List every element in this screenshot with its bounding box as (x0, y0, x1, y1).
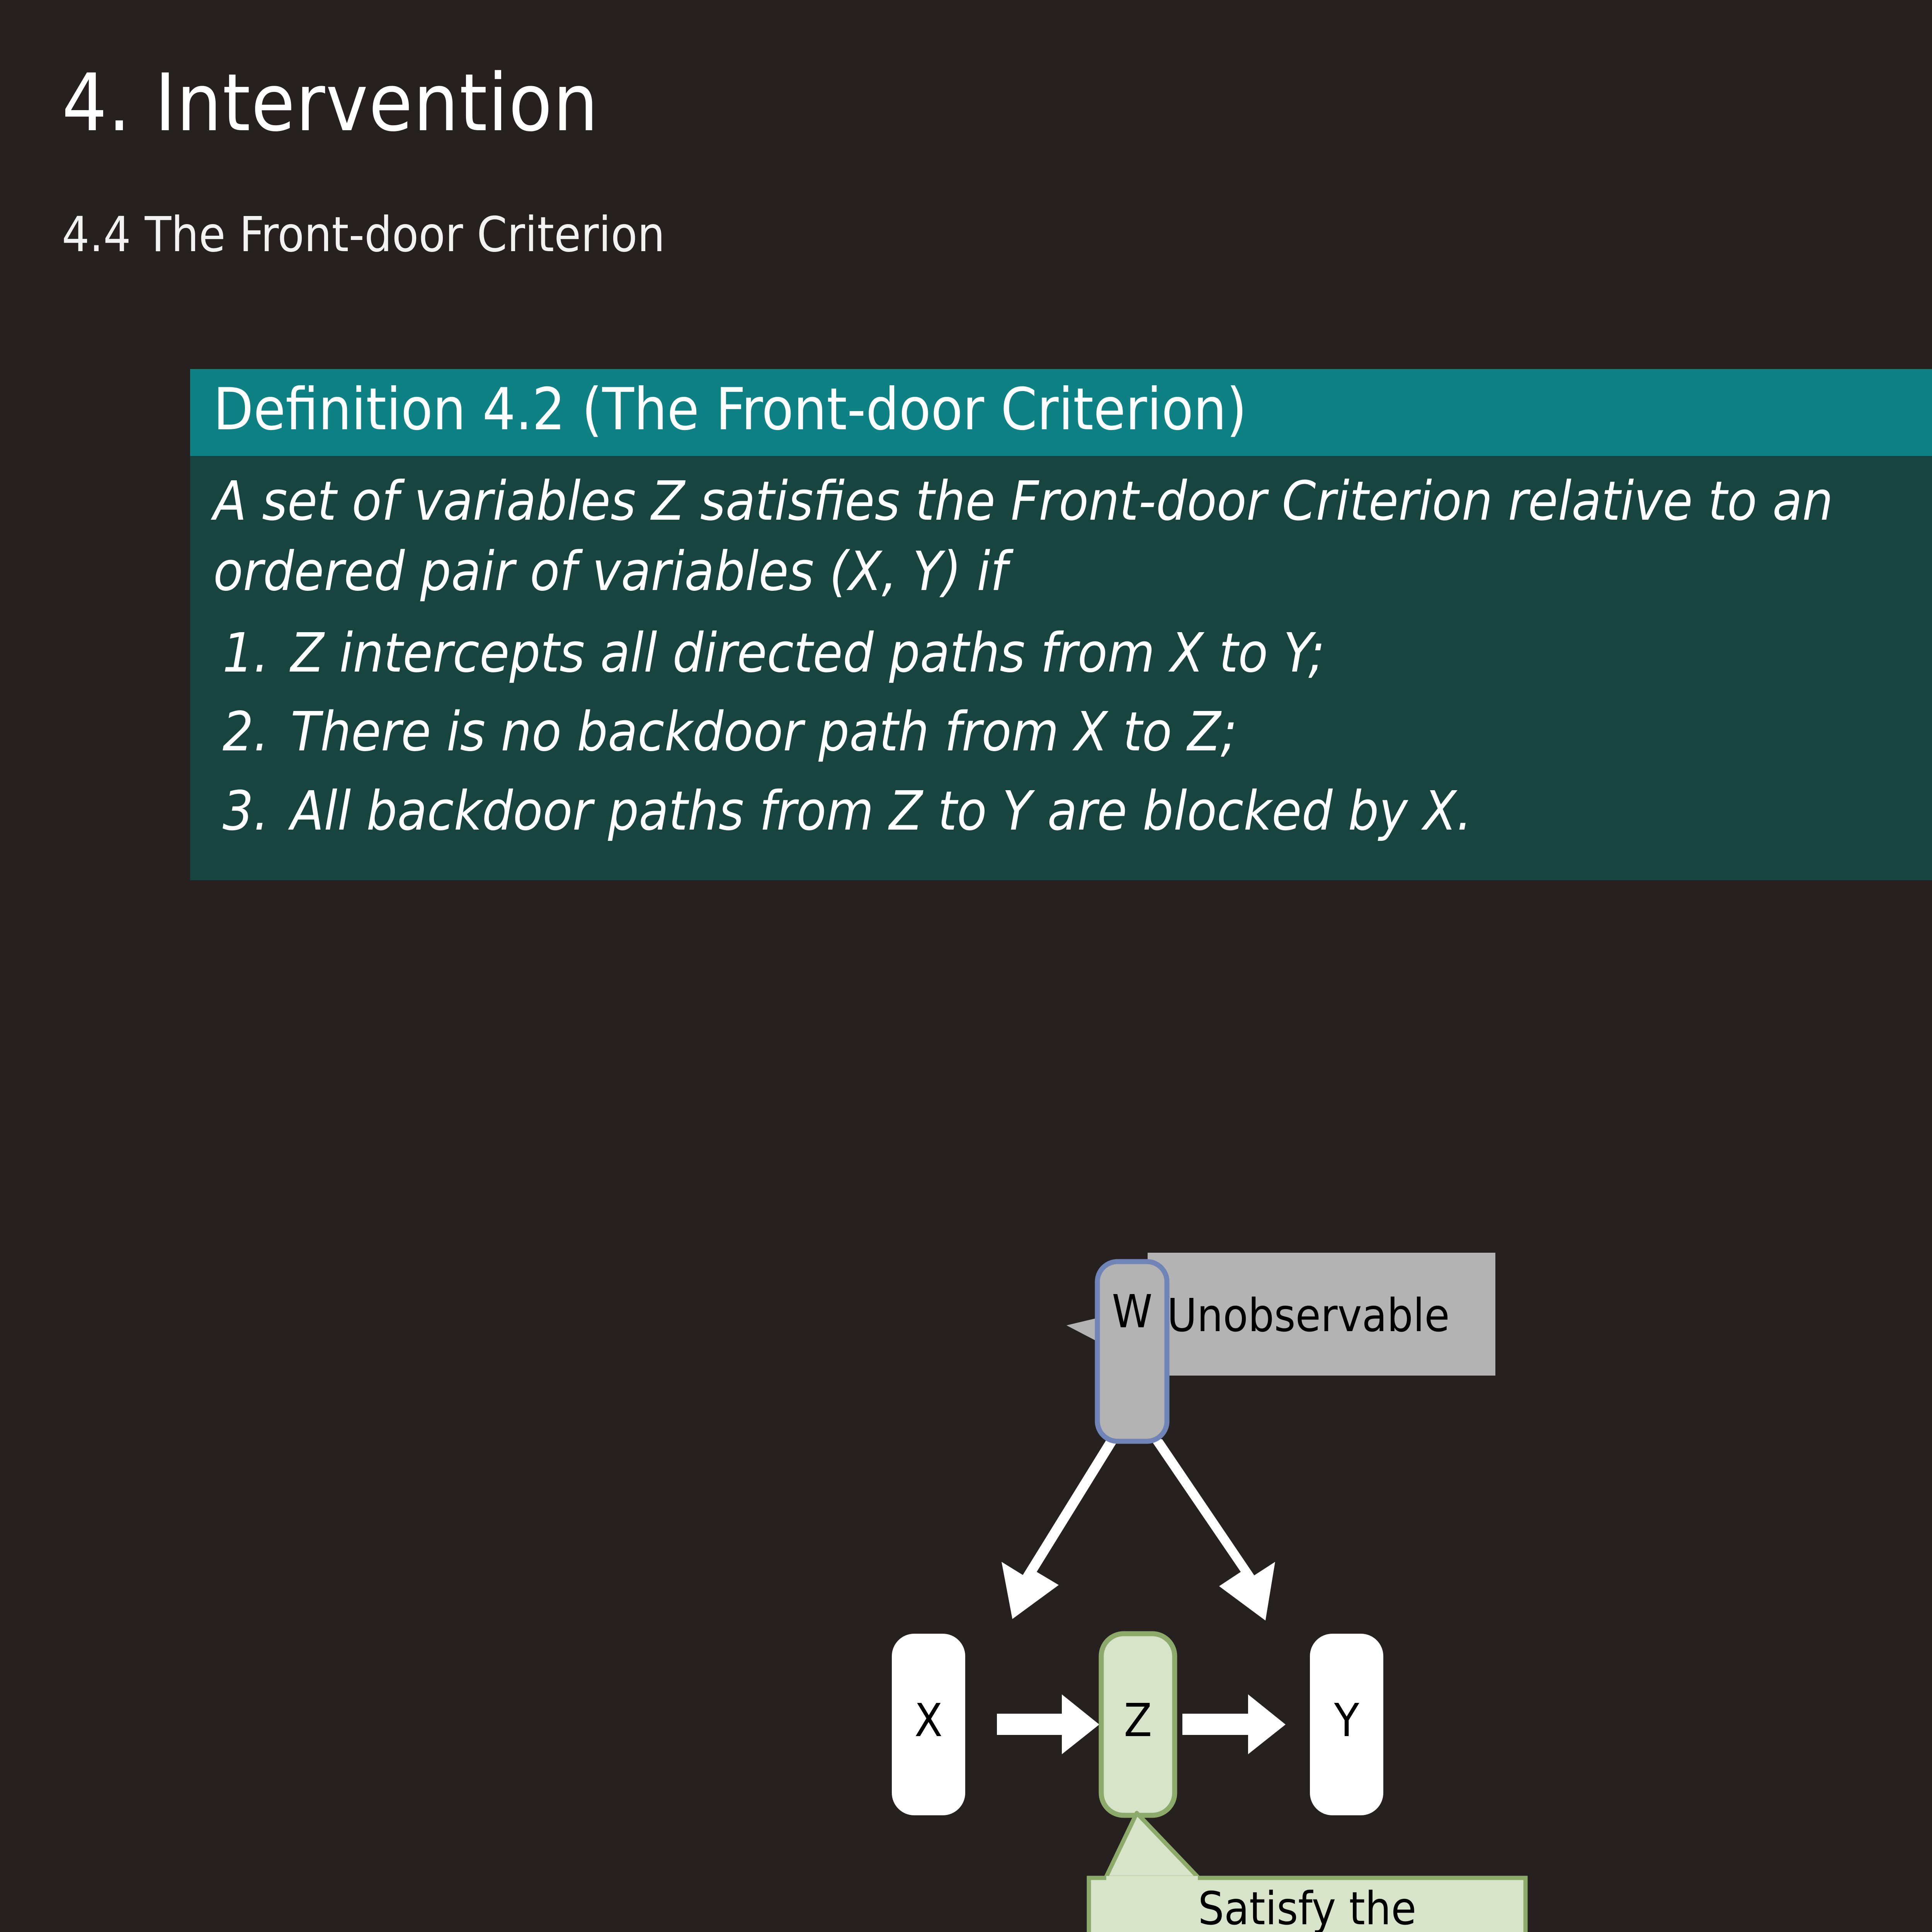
callout-satisfy-frontdoor: Satisfy the Front-door Criterion (1089, 1813, 1526, 1932)
list-item-number: 1. (213, 619, 291, 687)
diagram-node-w[interactable]: W (1097, 1262, 1167, 1441)
diagram-node-y-label: Y (1334, 1694, 1360, 1747)
definition-header: Definition 4.2 (The Front-door Criterion… (190, 369, 1932, 456)
diagram-node-x[interactable]: X (892, 1634, 965, 1815)
diagram-node-w-label: W (1112, 1285, 1153, 1338)
page-subtitle: 4.4 The Front-door Criterion (62, 211, 665, 259)
definition-criteria-list: 1. Z intercepts all directed paths from … (213, 619, 1932, 845)
page-title: 4. Intervention (62, 64, 599, 143)
list-item-text: There is no backdoor path from X to Z; (291, 698, 1932, 766)
diagram-node-y[interactable]: Y (1310, 1634, 1383, 1815)
edge-w-y (1148, 1436, 1275, 1621)
edge-w-x (1002, 1436, 1121, 1619)
list-item-text: All backdoor paths from Z to Y are block… (291, 777, 1932, 845)
diagram-node-z-label: Z (1124, 1694, 1152, 1747)
list-item-text: Z intercepts all directed paths from X t… (291, 619, 1932, 687)
diagram-node-x-label: X (915, 1694, 943, 1747)
definition-intro-line-1: A set of variables Z satisfies the Front… (213, 468, 1932, 536)
definition-block: Definition 4.2 (The Front-door Criterion… (190, 369, 1932, 880)
edge-z-y (1182, 1694, 1286, 1754)
causal-diagram: Unobservable W (850, 1229, 1932, 1932)
slide-root: 4. Intervention 4.4 The Front-door Crite… (0, 0, 1932, 1932)
definition-intro-line-2: ordered pair of variables (X, Y) if (213, 538, 1932, 606)
diagram-node-z[interactable]: Z (1101, 1634, 1175, 1815)
list-item: 1. Z intercepts all directed paths from … (213, 619, 1932, 687)
callout-satisfy-line-1: Satisfy the (1198, 1882, 1417, 1932)
edge-x-z (997, 1694, 1099, 1754)
callout-unobservable-label: Unobservable (1167, 1289, 1450, 1342)
list-item-number: 2. (213, 698, 291, 766)
list-item-number: 3. (213, 777, 291, 845)
list-item: 2. There is no backdoor path from X to Z… (213, 698, 1932, 766)
definition-body: A set of variables Z satisfies the Front… (190, 456, 1932, 880)
list-item: 3. All backdoor paths from Z to Y are bl… (213, 777, 1932, 845)
